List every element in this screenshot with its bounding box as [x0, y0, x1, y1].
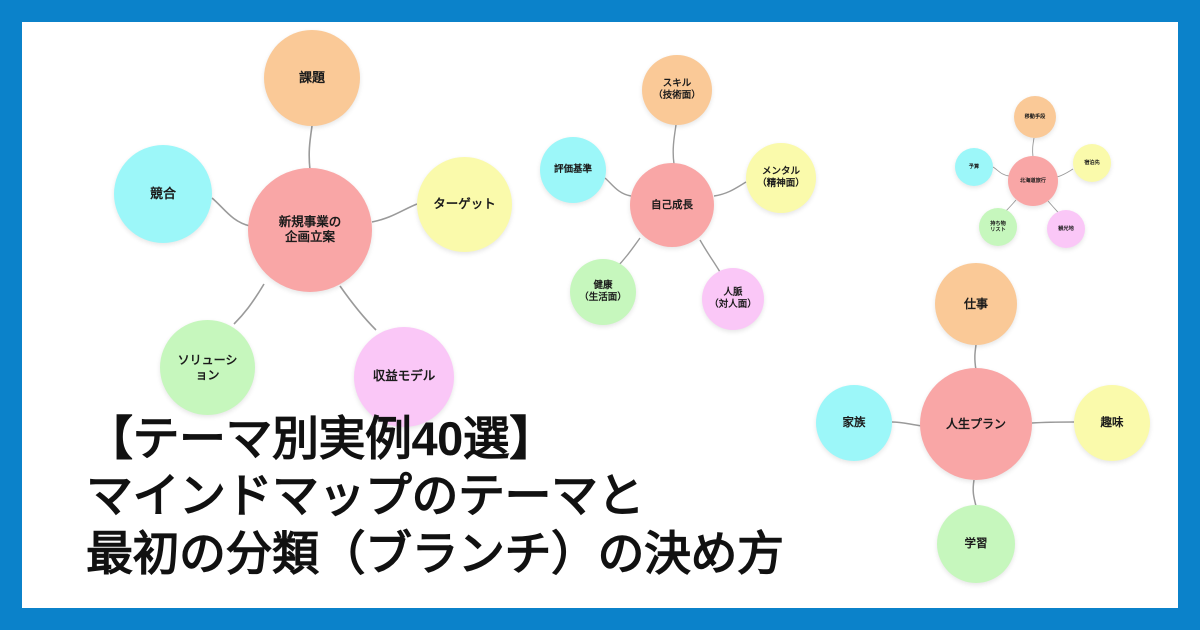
node-branch-left[interactable]: 評価基準: [540, 137, 606, 203]
title-line-1: 【テーマ別実例40選】: [86, 410, 784, 467]
node-branch-right[interactable]: ターゲット: [417, 157, 512, 252]
edge-center-top: [309, 126, 312, 170]
mindmap-new-business: 課題 競合 ターゲット ソリューシ ョン 収益モデル 新規事業の 企画立案: [92, 22, 522, 422]
mindmap-hokkaido-trip: 移動手段 予算 宿泊先 持ち物 リスト 観光地 北海道旅行: [930, 50, 1130, 230]
edge-center-bottom: [973, 480, 976, 506]
edge-center-right: [1032, 422, 1074, 423]
node-branch-bottom-left[interactable]: 健康 （生活面）: [570, 259, 636, 325]
edge-center-bottom-left: [234, 284, 264, 324]
node-center[interactable]: 北海道旅行: [1008, 156, 1058, 206]
node-branch-bottom-right[interactable]: 人脈 （対人面）: [702, 268, 764, 330]
edge-center-bottom-right: [700, 240, 720, 272]
node-branch-top[interactable]: 課題: [264, 30, 360, 126]
edge-center-top: [673, 125, 676, 164]
node-center[interactable]: 自己成長: [630, 163, 714, 247]
edge-center-left: [212, 198, 250, 226]
node-branch-left[interactable]: 競合: [114, 145, 212, 243]
edge-center-top: [975, 345, 976, 370]
diagram-canvas: 課題 競合 ターゲット ソリューシ ョン 収益モデル 新規事業の 企画立案 スキ…: [22, 22, 1178, 608]
node-branch-left[interactable]: 家族: [816, 385, 892, 461]
page-title: 【テーマ別実例40選】 マインドマップのテーマと 最初の分類（ブランチ）の決め方: [86, 410, 784, 582]
mindmap-life-plan: 仕事 家族 趣味 学習 人生プラン: [782, 240, 1162, 580]
edge-center-right: [1057, 169, 1073, 177]
node-branch-bottom[interactable]: 学習: [937, 505, 1015, 583]
node-branch-right[interactable]: 趣味: [1074, 385, 1150, 461]
node-branch-top[interactable]: 移動手段: [1014, 96, 1056, 138]
edge-center-left: [605, 178, 631, 196]
edge-center-left: [892, 422, 922, 426]
node-center[interactable]: 新規事業の 企画立案: [248, 168, 372, 292]
node-branch-left[interactable]: 予算: [955, 148, 993, 186]
edge-center-left: [993, 167, 1009, 176]
title-line-3: 最初の分類（ブランチ）の決め方: [86, 525, 784, 582]
node-branch-right[interactable]: 宿泊先: [1073, 144, 1111, 182]
node-center[interactable]: 人生プラン: [920, 368, 1032, 480]
edge-center-right: [372, 204, 417, 222]
node-branch-right[interactable]: メンタル （精神面）: [746, 143, 816, 213]
edge-center-right: [714, 182, 746, 196]
node-branch-top[interactable]: スキル （技術面）: [642, 55, 712, 125]
title-line-2: マインドマップのテーマと: [86, 467, 784, 524]
edge-center-bottom-right: [340, 286, 376, 330]
node-branch-top[interactable]: 仕事: [935, 263, 1017, 345]
og-image-frame: 課題 競合 ターゲット ソリューシ ョン 収益モデル 新規事業の 企画立案 スキ…: [0, 0, 1200, 630]
edge-center-top: [1033, 138, 1034, 157]
node-branch-bottom-left[interactable]: ソリューシ ョン: [160, 320, 255, 415]
